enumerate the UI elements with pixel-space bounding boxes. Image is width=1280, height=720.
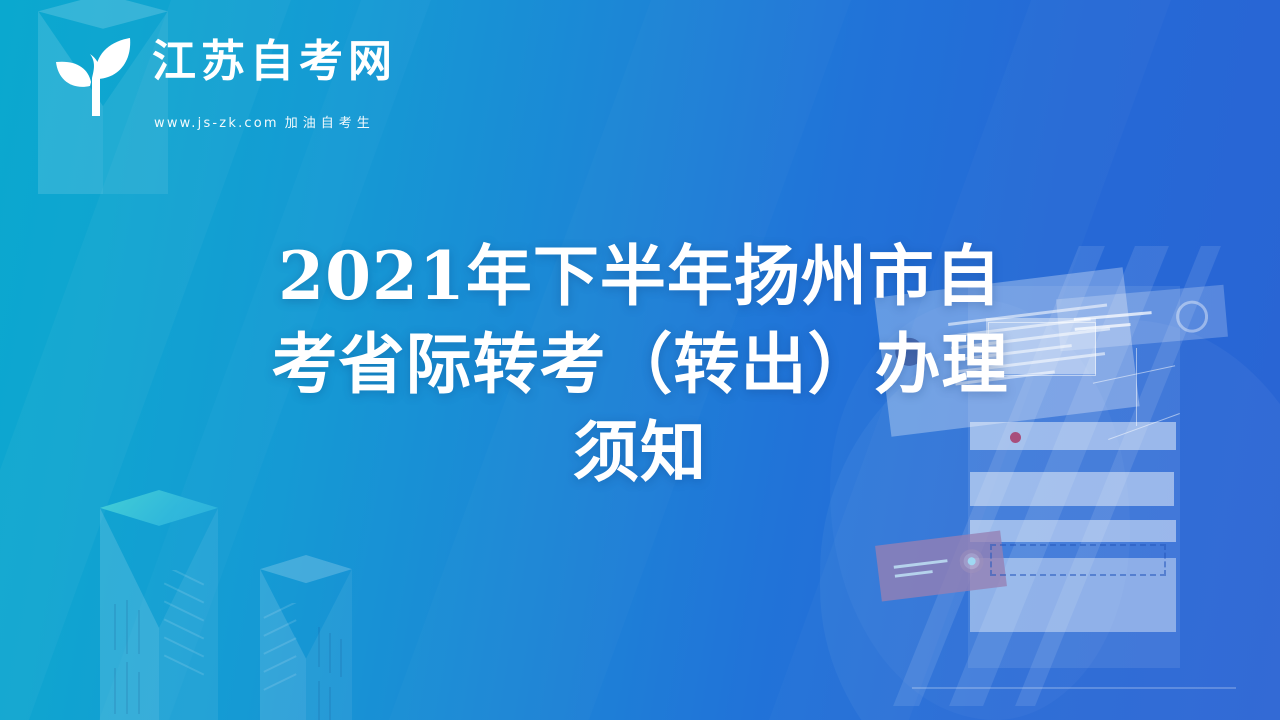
building-window-stripes (106, 600, 156, 720)
page-title: 2021年下半年扬州市自 考省际转考（转出）办理 须知 (0, 232, 1280, 496)
dashed-highlight-box (990, 544, 1166, 576)
logo-tagline-cn: 加油自考生 (285, 116, 375, 131)
building-top-face (100, 490, 218, 546)
building-window-stripes (162, 570, 214, 700)
building-window-stripes (312, 625, 352, 720)
page-title-line-1: 2021年下半年扬州市自 (0, 232, 1280, 320)
card-circle-icon (958, 548, 985, 575)
card-text-line (895, 570, 933, 578)
site-logo[interactable]: 江苏自考网 www.js-zk.com加油自考生 (30, 20, 410, 120)
logo-wordmark: 江苏自考网 (152, 40, 397, 84)
page-title-line-2: 考省际转考（转出）办理 (0, 320, 1280, 408)
building-window-stripes (262, 603, 304, 720)
poster-banner: 江苏自考网 www.js-zk.com加油自考生 2021年下半年扬州市自 考省… (0, 0, 1280, 720)
building-tall-icon (100, 490, 218, 720)
page-title-line-3: 须知 (0, 408, 1280, 496)
ground-line (912, 687, 1236, 689)
building-short-icon (260, 555, 352, 720)
card-text-line (894, 559, 948, 569)
logo-tagline-url: www.js-zk.com (154, 116, 279, 131)
building-top-face (260, 555, 352, 599)
sprout-icon (44, 32, 136, 116)
logo-tagline: www.js-zk.com加油自考生 (154, 112, 375, 131)
